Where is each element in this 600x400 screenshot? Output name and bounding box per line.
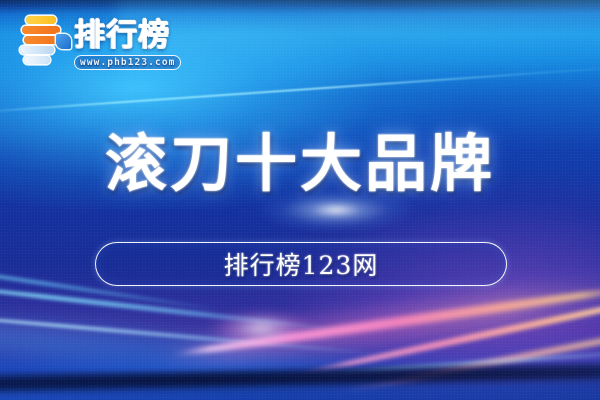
logo-text-block: 排行榜 www.phb123.com bbox=[74, 18, 190, 70]
banner-headline: 滚刀十大品牌 bbox=[0, 128, 600, 200]
logo-bar-1 bbox=[26, 16, 56, 24]
logo-brand-name: 排行榜 bbox=[74, 18, 190, 52]
logo-bar-2 bbox=[22, 26, 60, 34]
subtitle-pill: 排行榜123网 bbox=[95, 242, 507, 286]
logo-nib-icon bbox=[56, 34, 71, 49]
stacked-bars-logo-icon bbox=[14, 14, 72, 72]
site-logo[interactable]: 排行榜 www.phb123.com bbox=[14, 14, 190, 76]
streak-crossing-hotspot bbox=[196, 306, 326, 350]
logo-bar-4 bbox=[20, 46, 54, 54]
logo-url: www.phb123.com bbox=[74, 55, 181, 70]
subtitle-text: 排行榜123网 bbox=[224, 246, 379, 282]
promo-banner: 排行榜 www.phb123.com 滚刀十大品牌 排行榜123网 bbox=[0, 0, 600, 400]
logo-bar-5 bbox=[24, 56, 50, 64]
